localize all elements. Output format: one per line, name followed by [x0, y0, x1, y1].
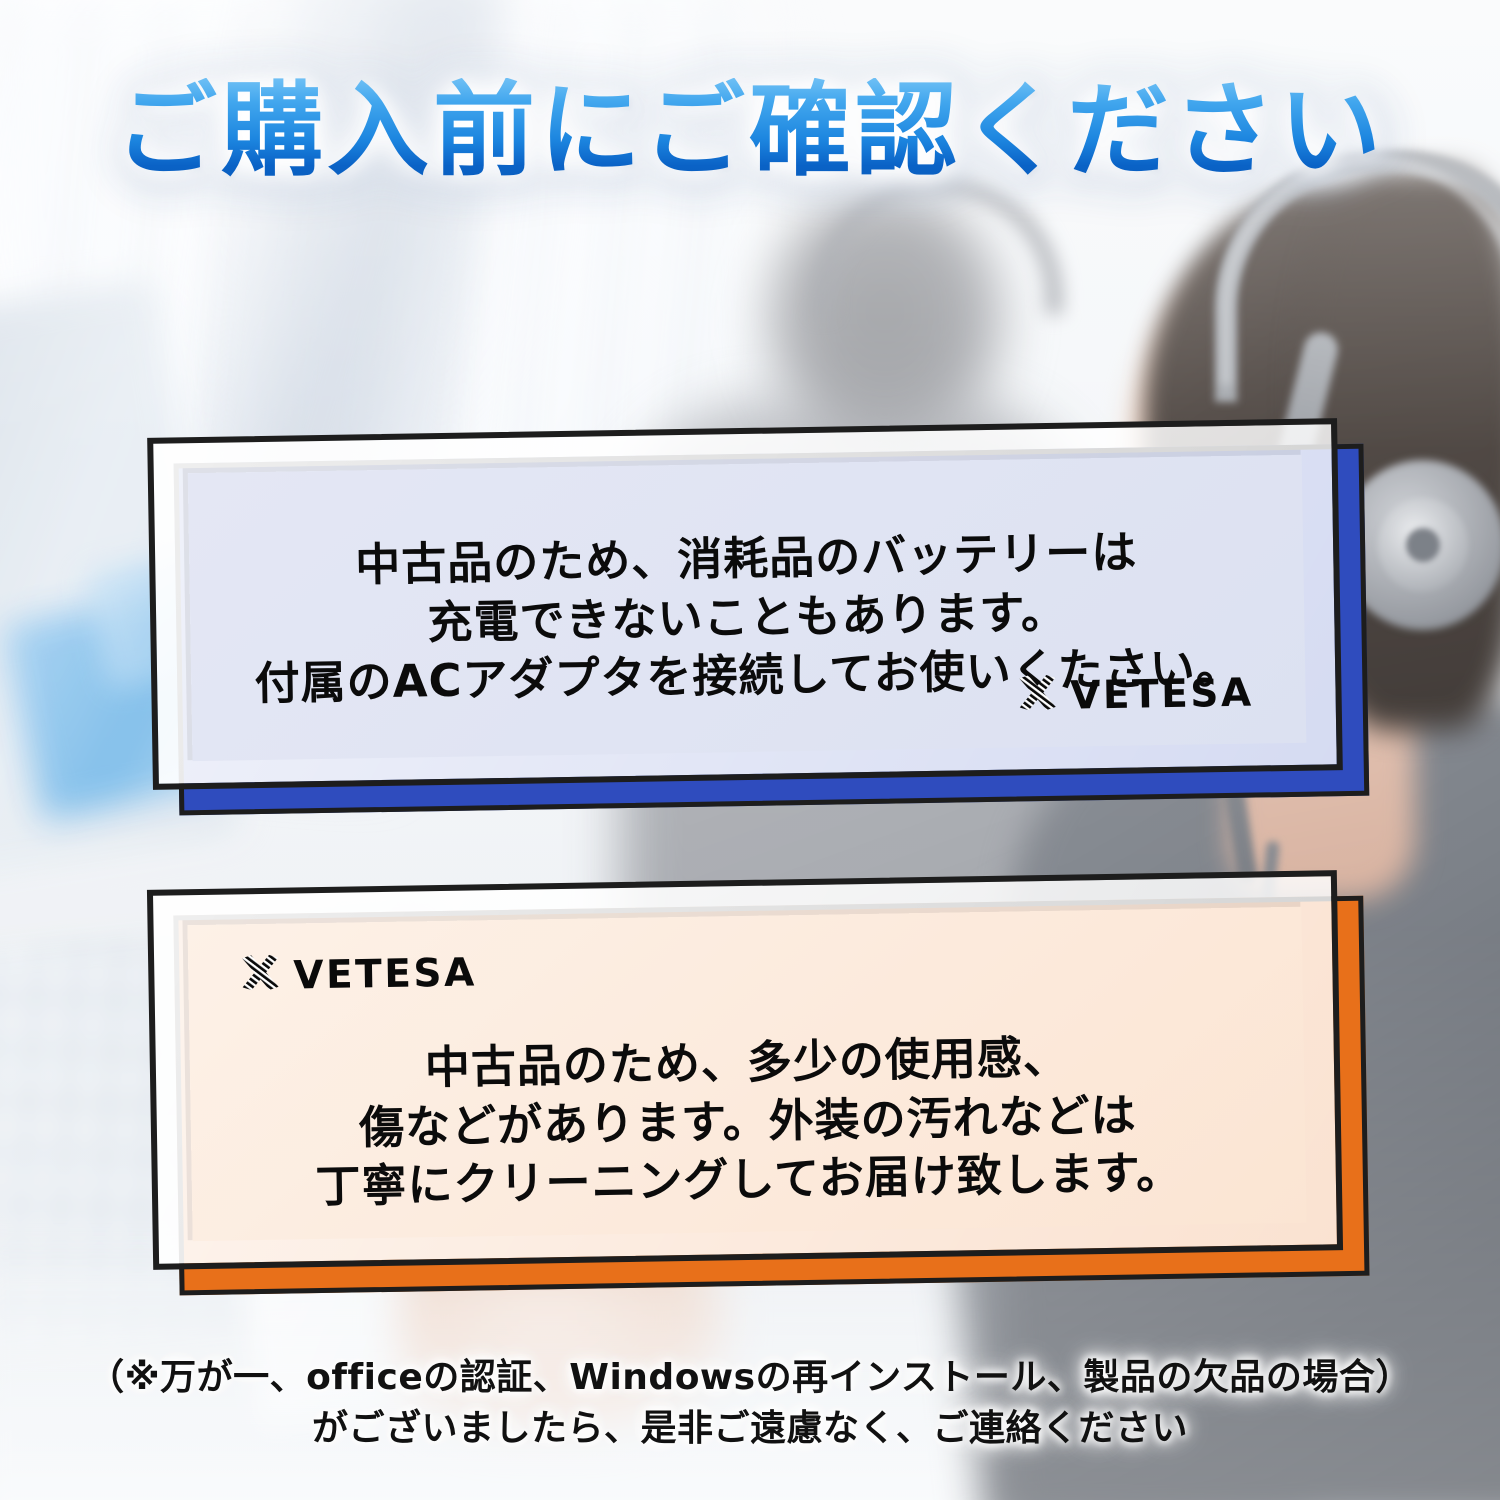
vetesa-wordmark: VETESA [1070, 674, 1254, 716]
footer-line-2: がございましたら、是非ご遠慮なく、ご連絡ください [0, 1403, 1500, 1454]
footer-line-1: （※万が一、officeの認証、Windowsの再インストール、製品の欠品の場合… [0, 1352, 1500, 1403]
card-frame: VETESA 中古品のため、多少の使用感、 傷などがあります。外装の汚れなどは … [147, 870, 1343, 1270]
card-panel: 中古品のため、消耗品のバッテリーは 充電できないこともあります。 付属のACアダ… [188, 455, 1307, 761]
vetesa-logo: VETESA [1015, 669, 1254, 722]
vetesa-logo: VETESA [238, 948, 477, 1001]
card-frame: 中古品のため、消耗品のバッテリーは 充電できないこともあります。 付属のACアダ… [147, 418, 1343, 790]
notice-card-condition: VETESA 中古品のため、多少の使用感、 傷などがあります。外装の汚れなどは … [147, 870, 1343, 1270]
promo-banner: ご購入前にご確認ください 中古品のため、消耗品のバッテリーは 充電できないことも… [0, 0, 1500, 1500]
card-body-text: 中古品のため、多少の使用感、 傷などがあります。外装の汚れなどは 丁寧にクリーニ… [189, 1025, 1306, 1219]
vetesa-x-mark-icon [238, 952, 283, 1002]
footer-note: （※万が一、officeの認証、Windowsの再インストール、製品の欠品の場合… [0, 1352, 1500, 1454]
notice-card-battery: 中古品のため、消耗品のバッテリーは 充電できないこともあります。 付属のACアダ… [147, 418, 1343, 790]
vetesa-x-mark-icon [1015, 672, 1060, 722]
page-title: ご購入前にご確認ください [0, 78, 1500, 185]
card-panel: VETESA 中古品のため、多少の使用感、 傷などがあります。外装の汚れなどは … [188, 907, 1307, 1241]
vetesa-wordmark: VETESA [293, 953, 477, 995]
